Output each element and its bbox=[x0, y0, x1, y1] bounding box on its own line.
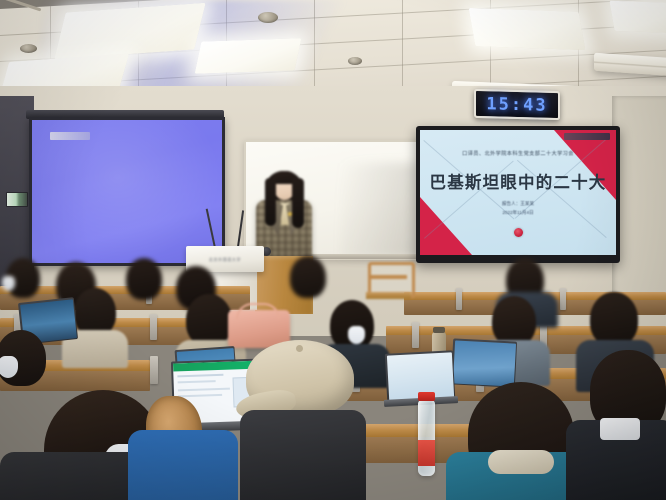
slide-presenter: 报告人：王某某 2022年11月4日 bbox=[420, 200, 616, 217]
slide-title: 巴基斯坦眼中的二十大 bbox=[420, 169, 616, 193]
smoke-detector-icon bbox=[20, 44, 37, 53]
hood-collar bbox=[488, 450, 554, 474]
projection-screen-label bbox=[50, 132, 90, 140]
smoke-detector-icon bbox=[348, 57, 362, 65]
presentation-display: 口译员、北外学院本科生党支部二十大学习会 巴基斯坦眼中的二十大 报告人：王某某 … bbox=[416, 126, 620, 263]
laptop-tablet[interactable] bbox=[451, 338, 517, 387]
ceiling-light-panel bbox=[609, 1, 666, 34]
slide-presenter-line: 报告人：王某某 bbox=[420, 200, 616, 209]
cap-button-icon bbox=[296, 345, 303, 352]
smoke-detector-icon bbox=[258, 12, 278, 23]
face-mask bbox=[348, 326, 365, 344]
student-head bbox=[492, 296, 536, 346]
led-wall-clock: 15:43 bbox=[474, 89, 560, 120]
desk-divider bbox=[150, 314, 157, 340]
student-head bbox=[74, 288, 116, 336]
shirt-collar bbox=[600, 418, 640, 440]
party-emblem-icon bbox=[514, 228, 523, 237]
podium-nameplate: 北京外国语大学 bbox=[201, 255, 249, 264]
slide-date-line: 2022年11月4日 bbox=[420, 209, 616, 218]
slide-subtitle: 口译员、北外学院本科生党支部二十大学习会 bbox=[420, 150, 616, 157]
bottle-label bbox=[418, 440, 435, 466]
student-torso bbox=[240, 410, 366, 500]
bottle-cap bbox=[418, 392, 435, 401]
student-head bbox=[126, 258, 162, 300]
desk-divider bbox=[560, 288, 566, 310]
slide-corner-logo bbox=[564, 133, 610, 140]
clock-time: 15:43 bbox=[486, 94, 547, 116]
desk-divider bbox=[412, 322, 419, 348]
student-head bbox=[186, 294, 232, 346]
ceiling-light-panel bbox=[469, 8, 586, 50]
student-head bbox=[590, 292, 638, 346]
left-projection-screen bbox=[29, 117, 225, 266]
face-mask bbox=[2, 276, 15, 291]
desk-divider bbox=[456, 288, 462, 310]
empty-chair[interactable] bbox=[366, 262, 411, 314]
student-head bbox=[290, 256, 326, 298]
blue-jacket bbox=[128, 430, 238, 500]
wall-control-panel[interactable] bbox=[6, 192, 28, 207]
ceiling-light-panel bbox=[195, 38, 302, 74]
desk-divider bbox=[150, 356, 158, 384]
right-wall-column bbox=[612, 96, 666, 311]
water-bottle bbox=[418, 400, 435, 476]
presentation-slide: 口译员、北外学院本科生党支部二十大学习会 巴基斯坦眼中的二十大 报告人：王某某 … bbox=[420, 130, 616, 255]
lecture-hall-photo: 15:43 口译员、北外学院本科生党支部二十大学习会 巴基斯坦眼中的二十大 报告… bbox=[0, 0, 666, 500]
